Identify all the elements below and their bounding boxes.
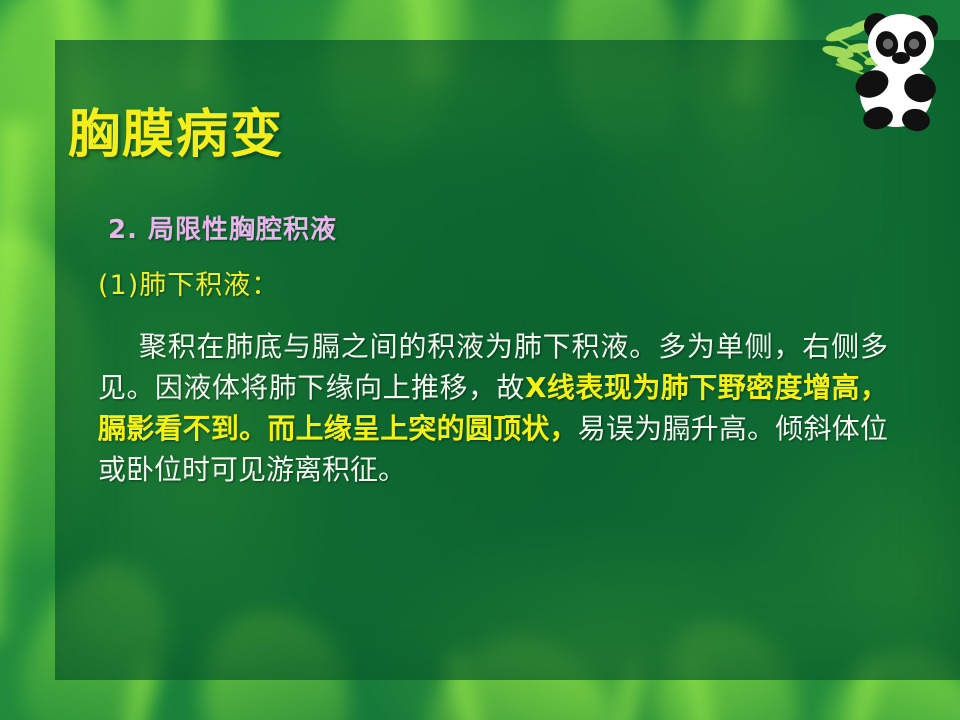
panda-left-eye <box>883 39 893 49</box>
body-paragraph: 聚积在肺底与膈之间的积液为肺下积液。多为单侧，右侧多见。因液体将肺下缘向上推移，… <box>98 326 888 490</box>
body-content: 2. 局限性胸腔积液 (1)肺下积液： 聚积在肺底与膈之间的积液为肺下积液。多为… <box>98 214 888 490</box>
panda-nose <box>892 52 910 64</box>
section-subheading-item: (1)肺下积液： <box>98 269 888 303</box>
slide-canvas: 胸膜病变 2. 局限性胸腔积液 (1)肺下积液： 聚积在肺底与膈之间的积液为肺下… <box>0 0 960 720</box>
panda-right-eye <box>909 39 919 49</box>
page-title: 胸膜病变 <box>68 92 284 167</box>
panda-illustration <box>820 2 956 134</box>
section-subheading-numbered: 2. 局限性胸腔积液 <box>108 214 888 247</box>
panda-eating-bamboo-icon <box>820 2 956 134</box>
